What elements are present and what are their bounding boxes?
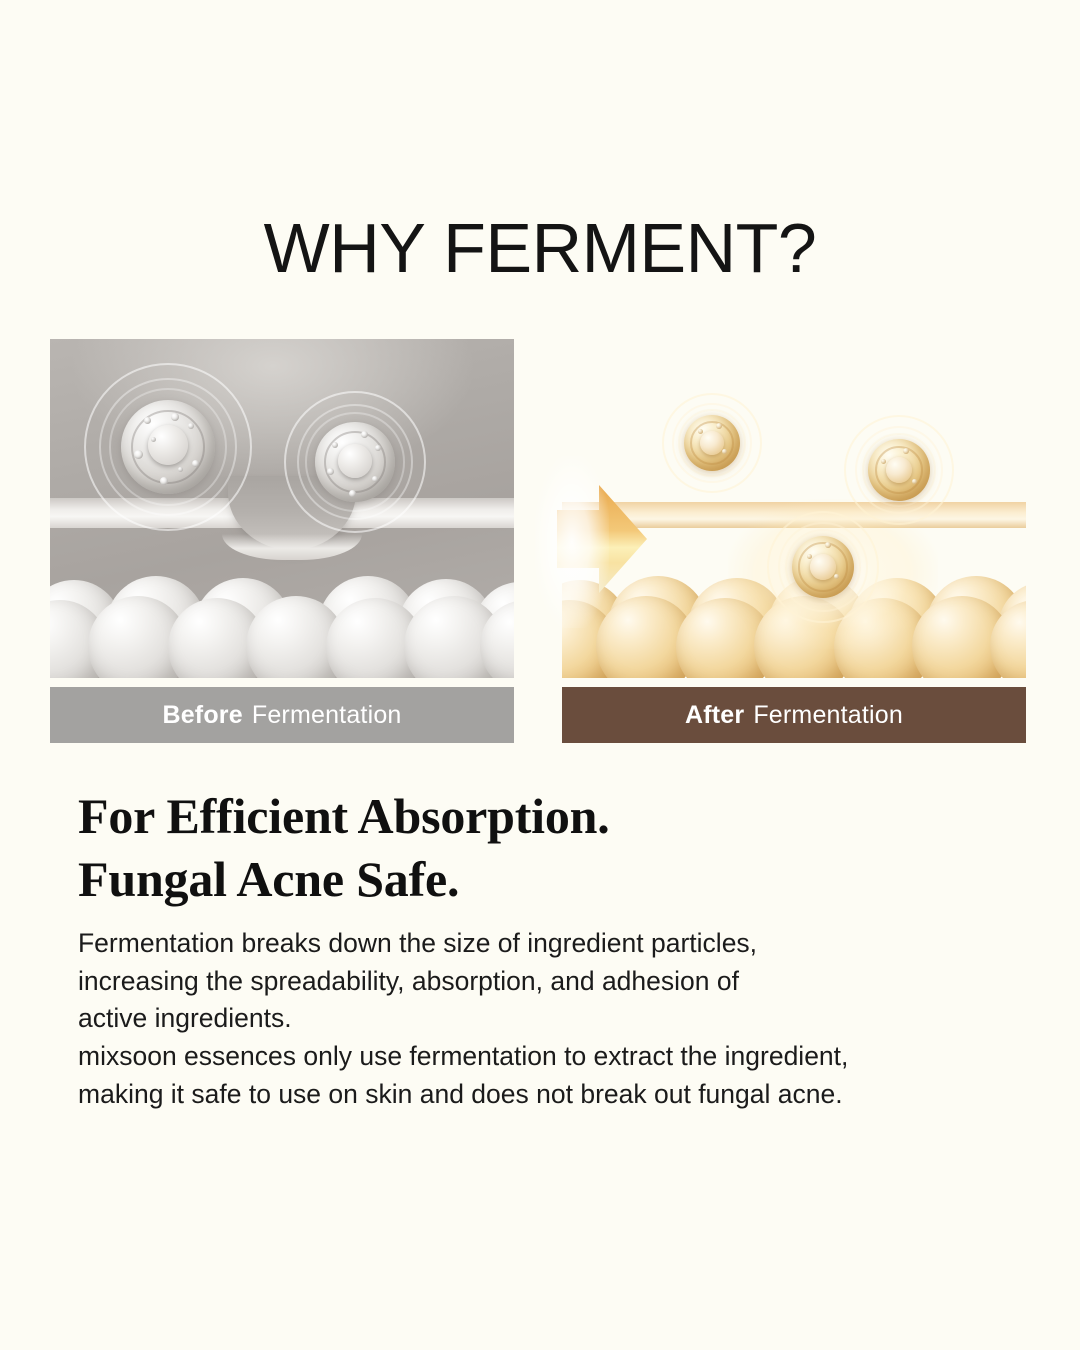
- molecule-large-grey: [284, 391, 426, 533]
- molecule-bubble: [807, 554, 812, 559]
- after-caption-rest: Fermentation: [753, 701, 903, 730]
- molecule-bubble: [716, 423, 722, 429]
- body-line-4: mixsoon essences only use fermentation t…: [78, 1038, 1038, 1076]
- molecule-core: [338, 444, 372, 478]
- molecule-bubble: [327, 468, 334, 475]
- molecule-small-gold: [844, 415, 954, 525]
- after-caption: After Fermentation: [562, 687, 1026, 743]
- section-headline: For Efficient Absorption. Fungal Acne Sa…: [78, 785, 998, 911]
- molecule-bubble: [192, 460, 199, 467]
- before-after-comparison: Before Fermentation: [50, 339, 1026, 743]
- section-body-copy: Fermentation breaks down the size of ing…: [78, 925, 1038, 1113]
- page-title: WHY FERMENT?: [0, 213, 1080, 283]
- after-caption-strong: After: [685, 701, 744, 730]
- molecule-large-grey: [84, 363, 252, 531]
- before-skin-cells: [50, 518, 514, 678]
- before-illustration: [50, 339, 514, 678]
- molecule-bubble: [834, 574, 839, 579]
- arrow-glow: [535, 456, 609, 628]
- molecule-bubble: [375, 445, 381, 451]
- before-caption: Before Fermentation: [50, 687, 514, 743]
- molecule-core: [700, 431, 724, 455]
- transition-arrow: [505, 480, 675, 598]
- before-caption-rest: Fermentation: [252, 701, 402, 730]
- molecule-small-gold: [662, 393, 762, 493]
- molecule-bubble: [361, 431, 368, 438]
- body-line-2: increasing the spreadability, absorption…: [78, 963, 1038, 1001]
- headline-line-1: For Efficient Absorption.: [78, 785, 998, 848]
- before-cell-row-front: [50, 586, 514, 678]
- molecule-bubble: [698, 429, 703, 434]
- molecule-absorbing: [767, 511, 879, 623]
- before-panel: Before Fermentation: [50, 339, 514, 743]
- headline-line-2: Fungal Acne Safe.: [78, 848, 998, 911]
- molecule-bubble: [160, 477, 168, 485]
- body-line-1: Fermentation breaks down the size of ing…: [78, 925, 1038, 963]
- before-caption-strong: Before: [162, 701, 242, 730]
- molecule-bubble: [722, 449, 727, 454]
- molecule-bubble: [912, 479, 917, 484]
- body-line-3: active ingredients.: [78, 1000, 1038, 1038]
- body-line-5: making it safe to use on skin and does n…: [78, 1076, 1038, 1114]
